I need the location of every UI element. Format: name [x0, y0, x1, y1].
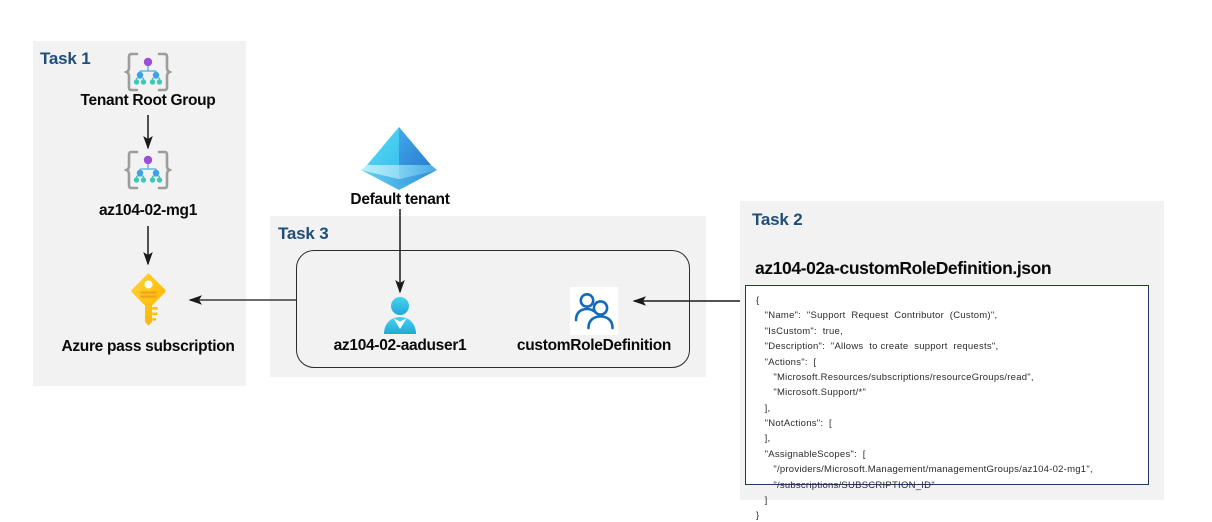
- azure-ad-tenant-icon: [358, 124, 440, 192]
- json-filename-label: az104-02a-customRoleDefinition.json: [755, 258, 1051, 279]
- node-label-azure-pass-subscription: Azure pass subscription: [55, 337, 241, 356]
- node-label-default-tenant: Default tenant: [300, 191, 500, 209]
- custom-role-users-icon: [572, 289, 616, 333]
- management-group-icon: [124, 148, 172, 192]
- aad-user-icon: [379, 295, 421, 337]
- node-label-az104-02-mg1: az104-02-mg1: [40, 202, 256, 220]
- node-label-customroledefinition: customRoleDefinition: [494, 337, 694, 355]
- node-label-tenant-root-group: Tenant Root Group: [40, 92, 256, 110]
- diagram-canvas: Task 1 Tenant Root Group: [0, 0, 1212, 522]
- task3-label: Task 3: [278, 224, 328, 244]
- task2-label: Task 2: [752, 210, 802, 230]
- json-content-text: { "Name": "Support Request Contributor (…: [746, 286, 1148, 522]
- key-icon: [126, 271, 171, 327]
- management-group-icon: [124, 50, 172, 94]
- node-label-az104-02-aaduser1: az104-02-aaduser1: [300, 337, 500, 355]
- json-content-box: { "Name": "Support Request Contributor (…: [745, 285, 1149, 485]
- task1-label: Task 1: [40, 49, 90, 69]
